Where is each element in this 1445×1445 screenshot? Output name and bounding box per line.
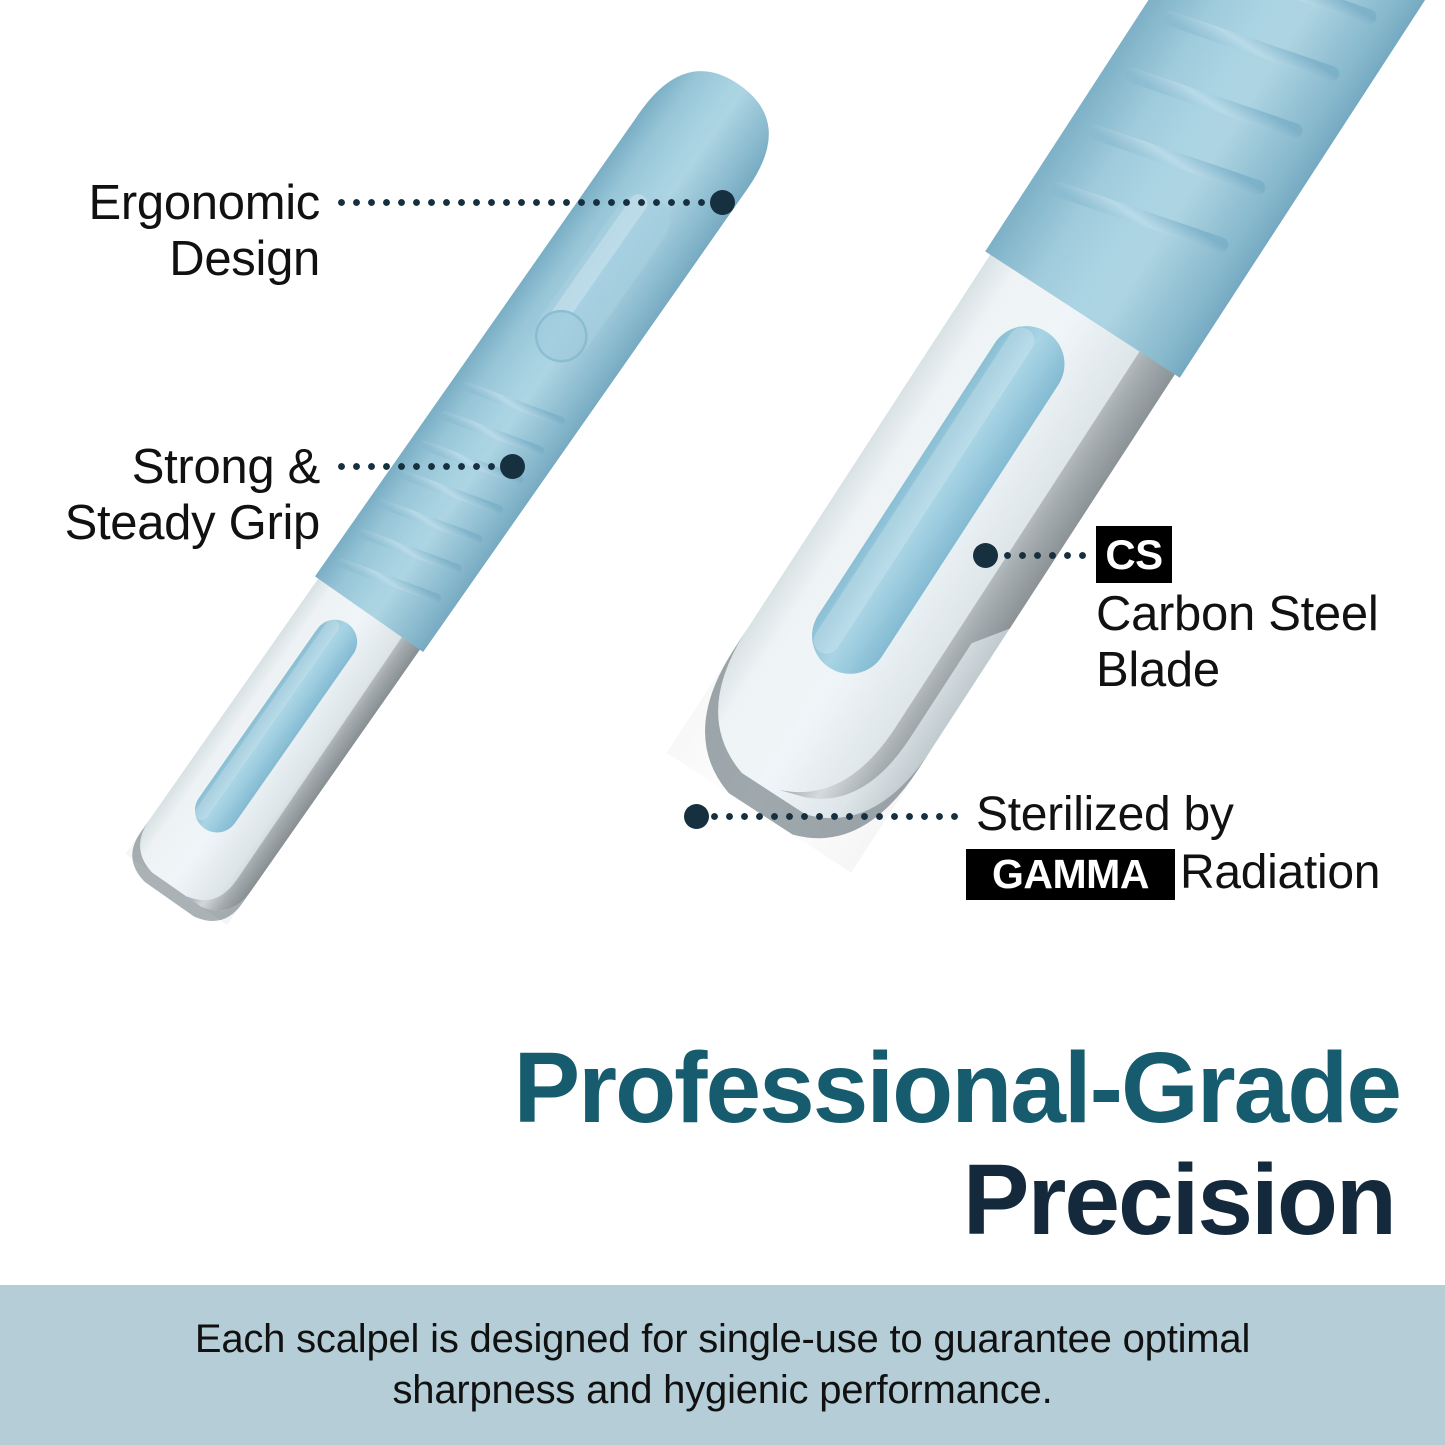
leader-dot-sterilized-gamma — [684, 804, 709, 829]
banner-description-text: Each scalpel is designed for single-use … — [113, 1314, 1333, 1416]
callout-label-carbon-steel-blade: Carbon Steel Blade — [1096, 587, 1426, 699]
bottom-banner: Each scalpel is designed for single-use … — [0, 1285, 1445, 1445]
grip-ridges-right — [1059, 0, 1445, 280]
carbon-steel-badge-icon: CS — [1096, 526, 1172, 583]
callout-label-strong-steady-grip: Strong & Steady Grip — [10, 440, 320, 552]
leader-dot-ergonomic-design — [710, 190, 735, 215]
leader-line-ergonomic-design — [334, 198, 712, 207]
grip-ridges-left — [341, 365, 560, 619]
gamma-badge-icon: GAMMA — [966, 849, 1175, 900]
callout-label-radiation: Radiation — [1180, 845, 1380, 900]
scalpel-right — [662, 0, 1445, 876]
leader-line-sterilized-gamma — [707, 812, 962, 821]
leader-dot-carbon-steel-blade — [973, 543, 998, 568]
leader-line-carbon-steel-blade — [1000, 551, 1086, 560]
callout-label-ergonomic-design: Ergonomic Design — [10, 176, 320, 288]
headline-line-1: Professional-Grade — [0, 1038, 1400, 1138]
product-infographic: Ergonomic Design Strong & Steady Grip CS… — [0, 0, 1445, 1445]
scalpel-right-handle — [985, 0, 1445, 378]
leader-line-strong-steady-grip — [334, 462, 504, 471]
headline-line-2: Precision — [0, 1150, 1395, 1250]
leader-dot-strong-steady-grip — [500, 454, 525, 479]
scalpel-left-handle — [315, 47, 794, 652]
callout-label-sterilized-by: Sterilized by — [976, 788, 1416, 843]
scalpel-left-blade — [119, 572, 425, 935]
